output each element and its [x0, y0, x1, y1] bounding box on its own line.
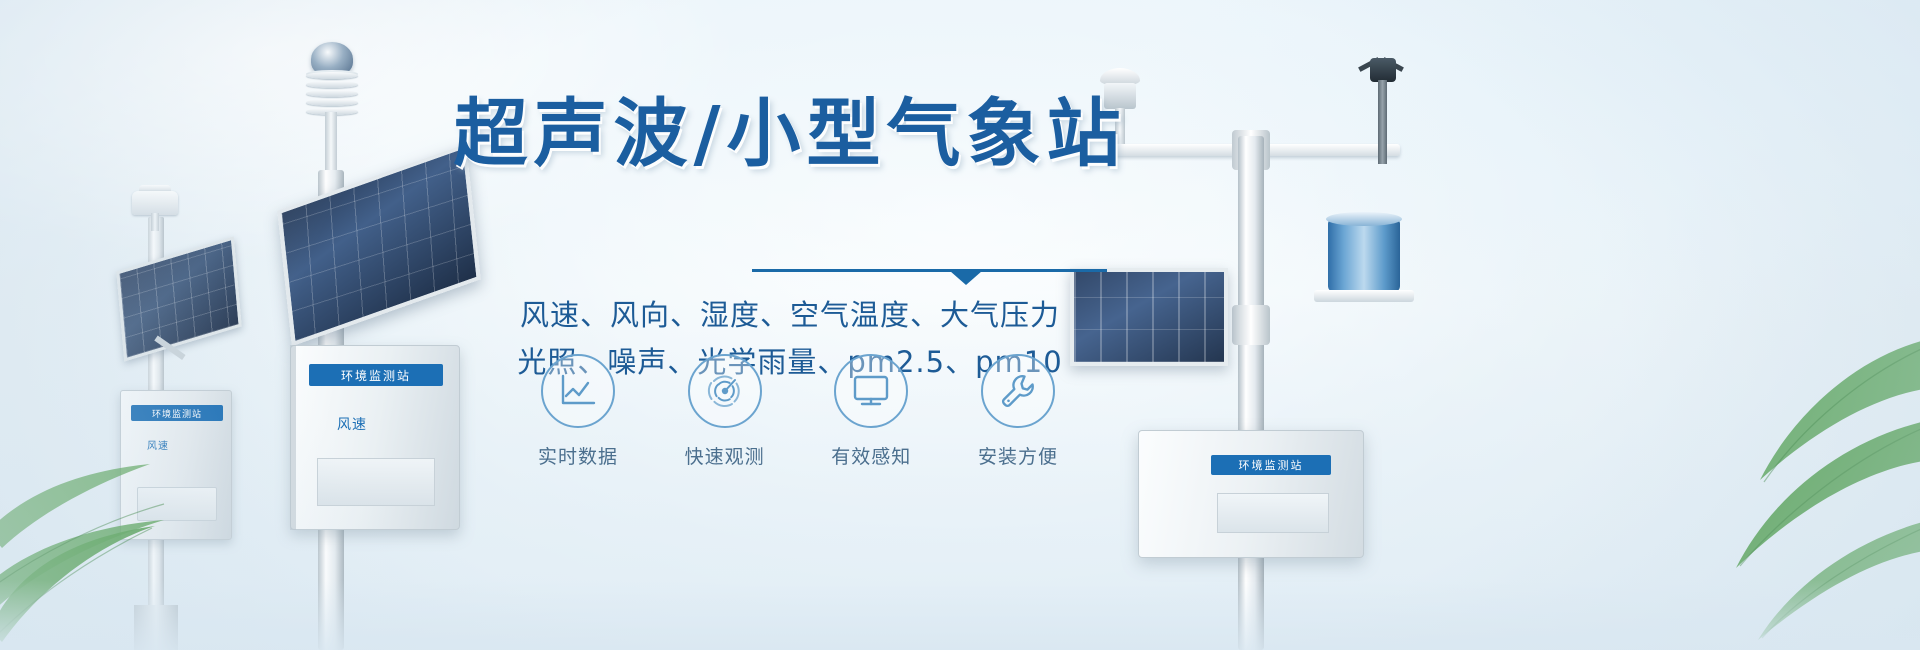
- wind-vane-sensor-icon: [1360, 58, 1406, 148]
- radiation-shield-sensor-icon: [126, 185, 184, 221]
- subtitle-line-1: 风速、风向、湿度、空气温度、大气压力: [430, 292, 1150, 339]
- feature-item-realtime-data[interactable]: 实时数据: [518, 354, 638, 469]
- cabinet-vent: [1217, 493, 1329, 533]
- line-chart-icon: [541, 354, 615, 428]
- feature-item-easy-installation[interactable]: 安装方便: [958, 354, 1078, 469]
- feature-item-fast-observation[interactable]: 快速观测: [665, 354, 785, 469]
- sensor-mast: [325, 112, 337, 174]
- divider-line: [752, 269, 1107, 272]
- rain-gauge: [1322, 212, 1406, 304]
- leaf-decoration-left: [0, 330, 190, 650]
- radar-signal-icon: [688, 354, 762, 428]
- banner-stage: 环境监测站 风速 环境监测站 风速: [0, 0, 1920, 650]
- feature-item-effective-sensing[interactable]: 有效感知: [811, 354, 931, 469]
- leaf-decoration-right: [1640, 300, 1920, 650]
- title-divider: [752, 266, 1107, 280]
- feature-label: 快速观测: [665, 442, 785, 469]
- page-title: 超声波/小型气象站: [430, 96, 1150, 174]
- pole-collar-mid: [1232, 305, 1270, 345]
- down-triangle-icon: [950, 271, 982, 285]
- feature-list: 实时数据 快速: [518, 354, 1078, 469]
- controller-cabinet: 环境监测站: [1138, 430, 1364, 558]
- cabinet-label: 环境监测站: [1211, 455, 1331, 475]
- banner-content: 超声波/小型气象站 风速、风向、湿度、空气温度、大气压力 光照、噪声、光学雨量、…: [430, 96, 1150, 566]
- wrench-icon: [981, 354, 1055, 428]
- feature-label: 安装方便: [958, 442, 1078, 469]
- feature-label: 实时数据: [518, 442, 638, 469]
- monitor-icon: [834, 354, 908, 428]
- mounting-pole: [1238, 136, 1264, 650]
- feature-label: 有效感知: [811, 442, 931, 469]
